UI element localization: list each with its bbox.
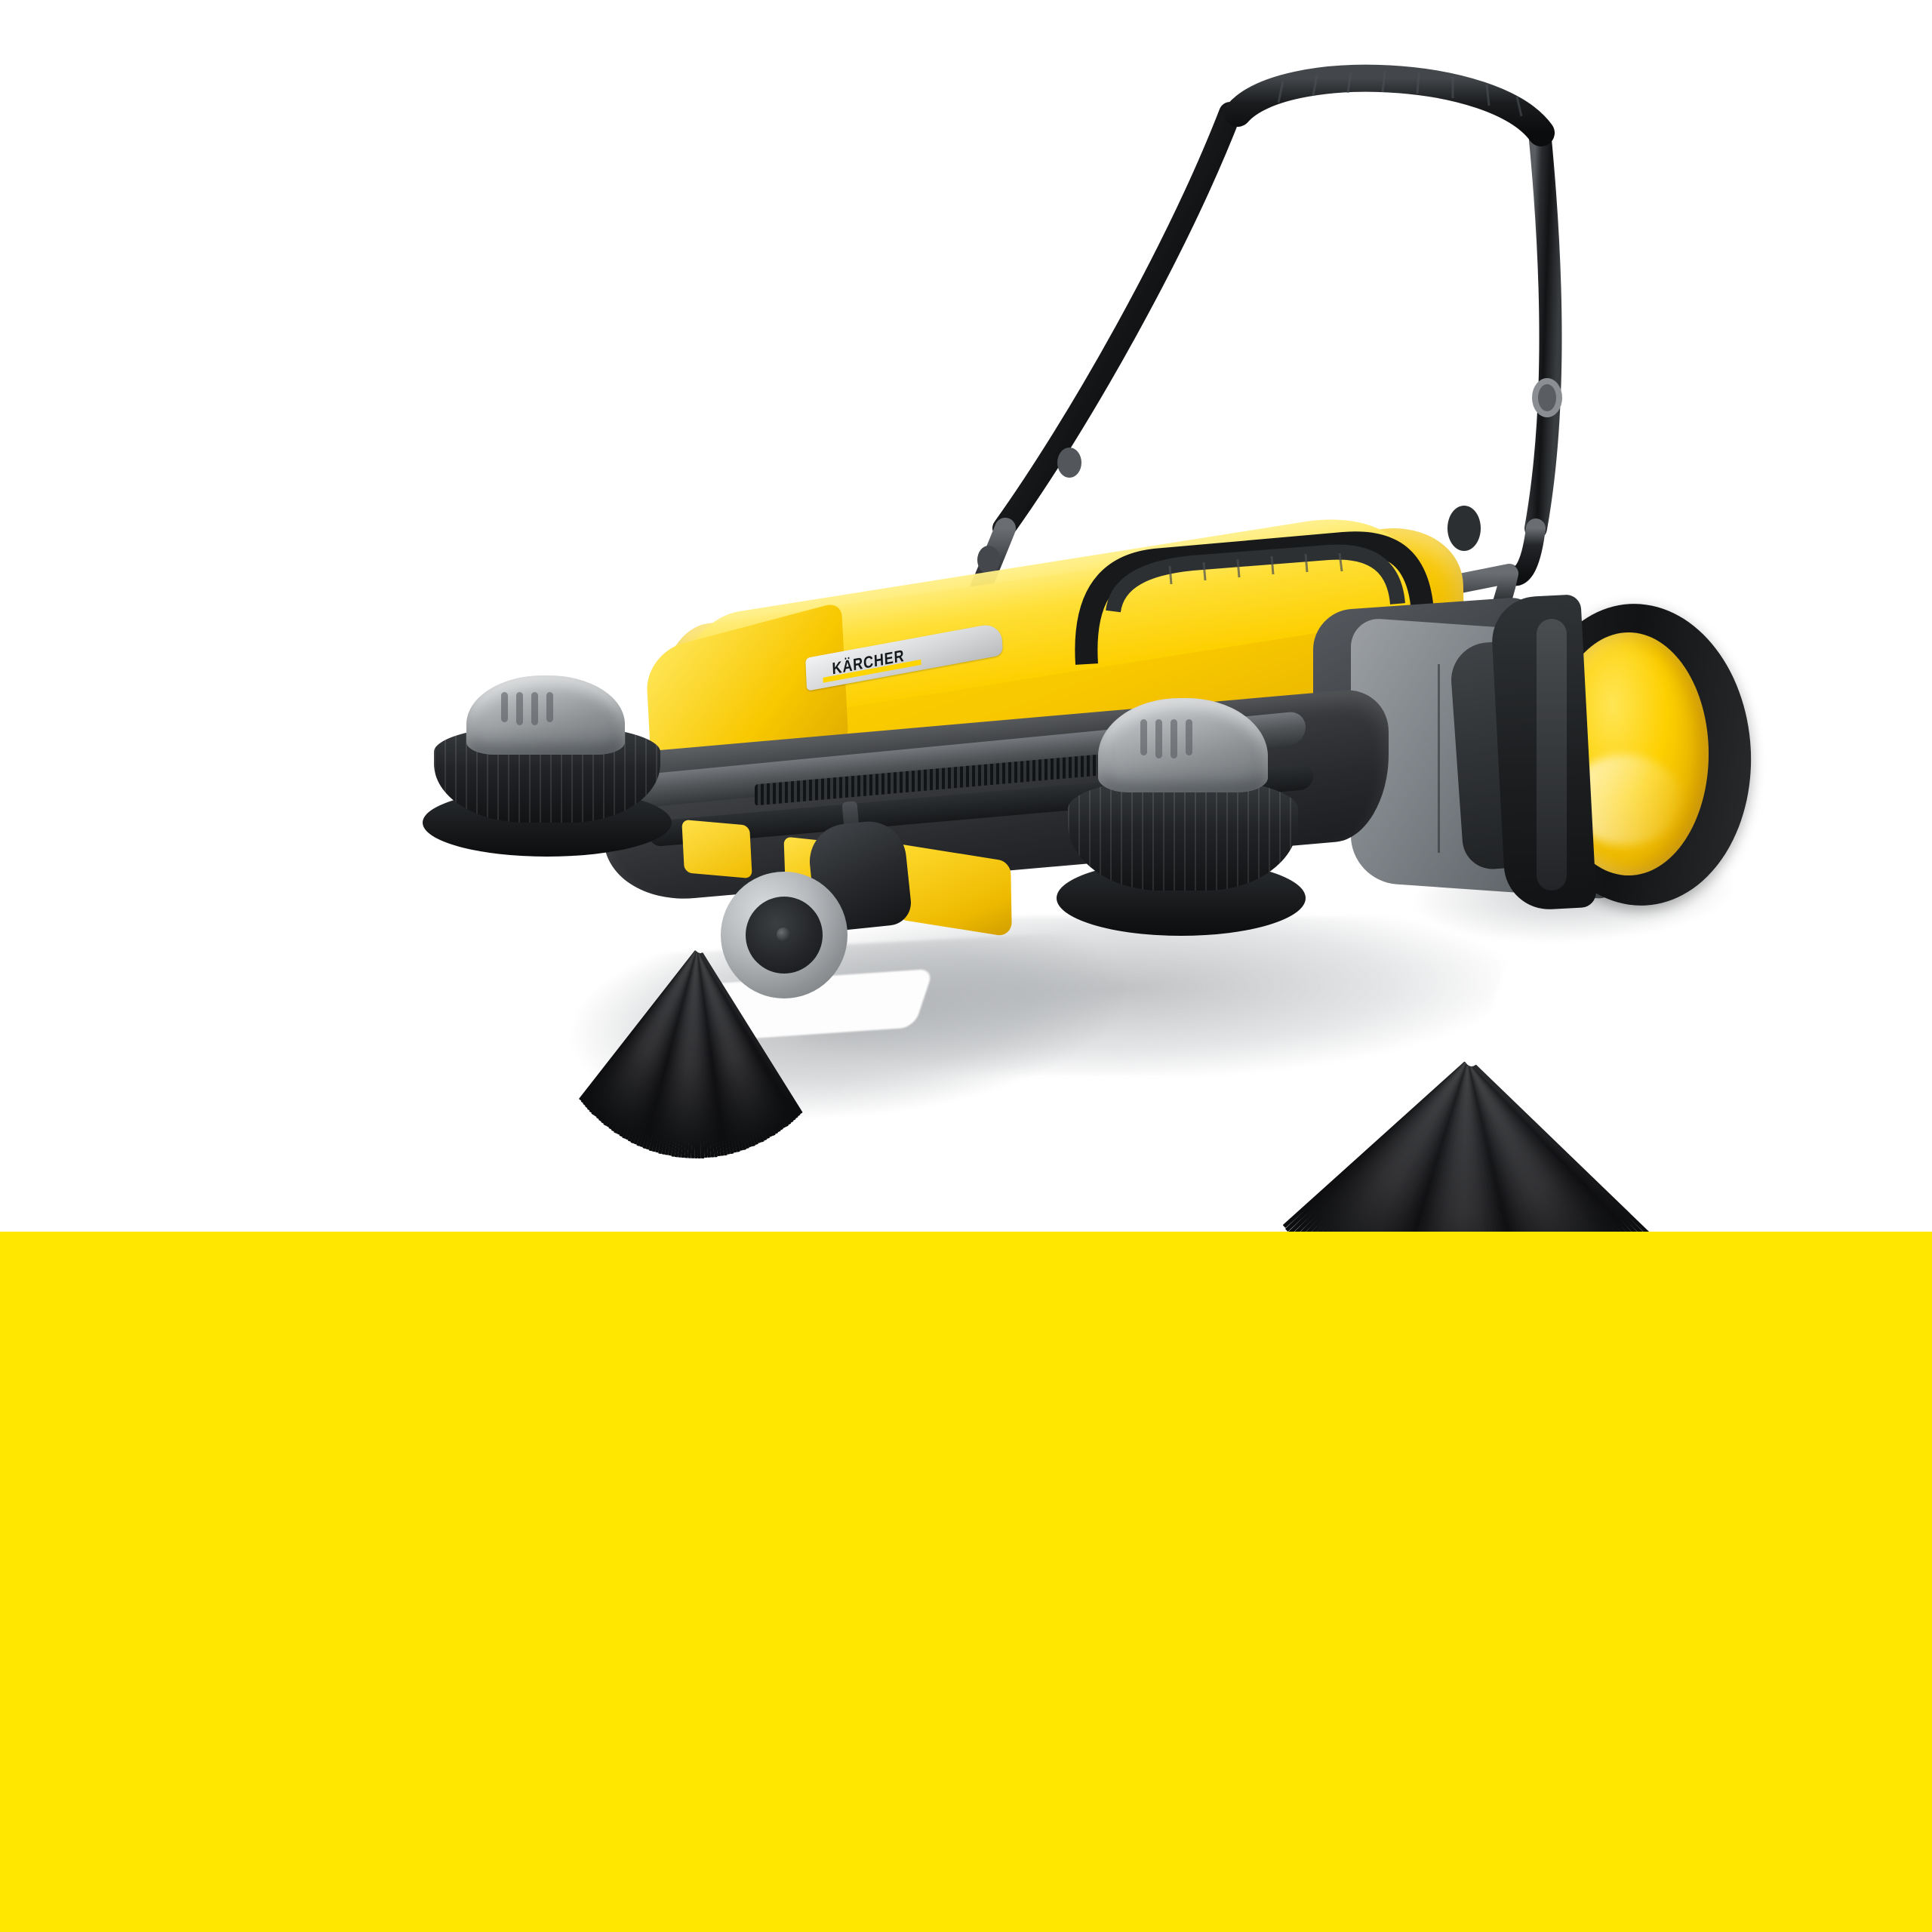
right-side-brush bbox=[830, 891, 1464, 1215]
left-cap-vents bbox=[501, 692, 553, 722]
right-collar-ribs bbox=[1068, 777, 1298, 891]
rear-wheel-arch-inner bbox=[1537, 619, 1567, 891]
right-brush-collar bbox=[1068, 777, 1298, 891]
at-a-glance-panel: AT A GLANCE Cleans up to 6 times faster … bbox=[0, 1232, 1932, 1932]
product-photo: KÄRCHER bbox=[0, 0, 1932, 1232]
right-cap-vents bbox=[1140, 719, 1192, 755]
product-feature-card: KÄRCHER bbox=[0, 0, 1932, 1932]
hopper-seam bbox=[1438, 664, 1440, 853]
